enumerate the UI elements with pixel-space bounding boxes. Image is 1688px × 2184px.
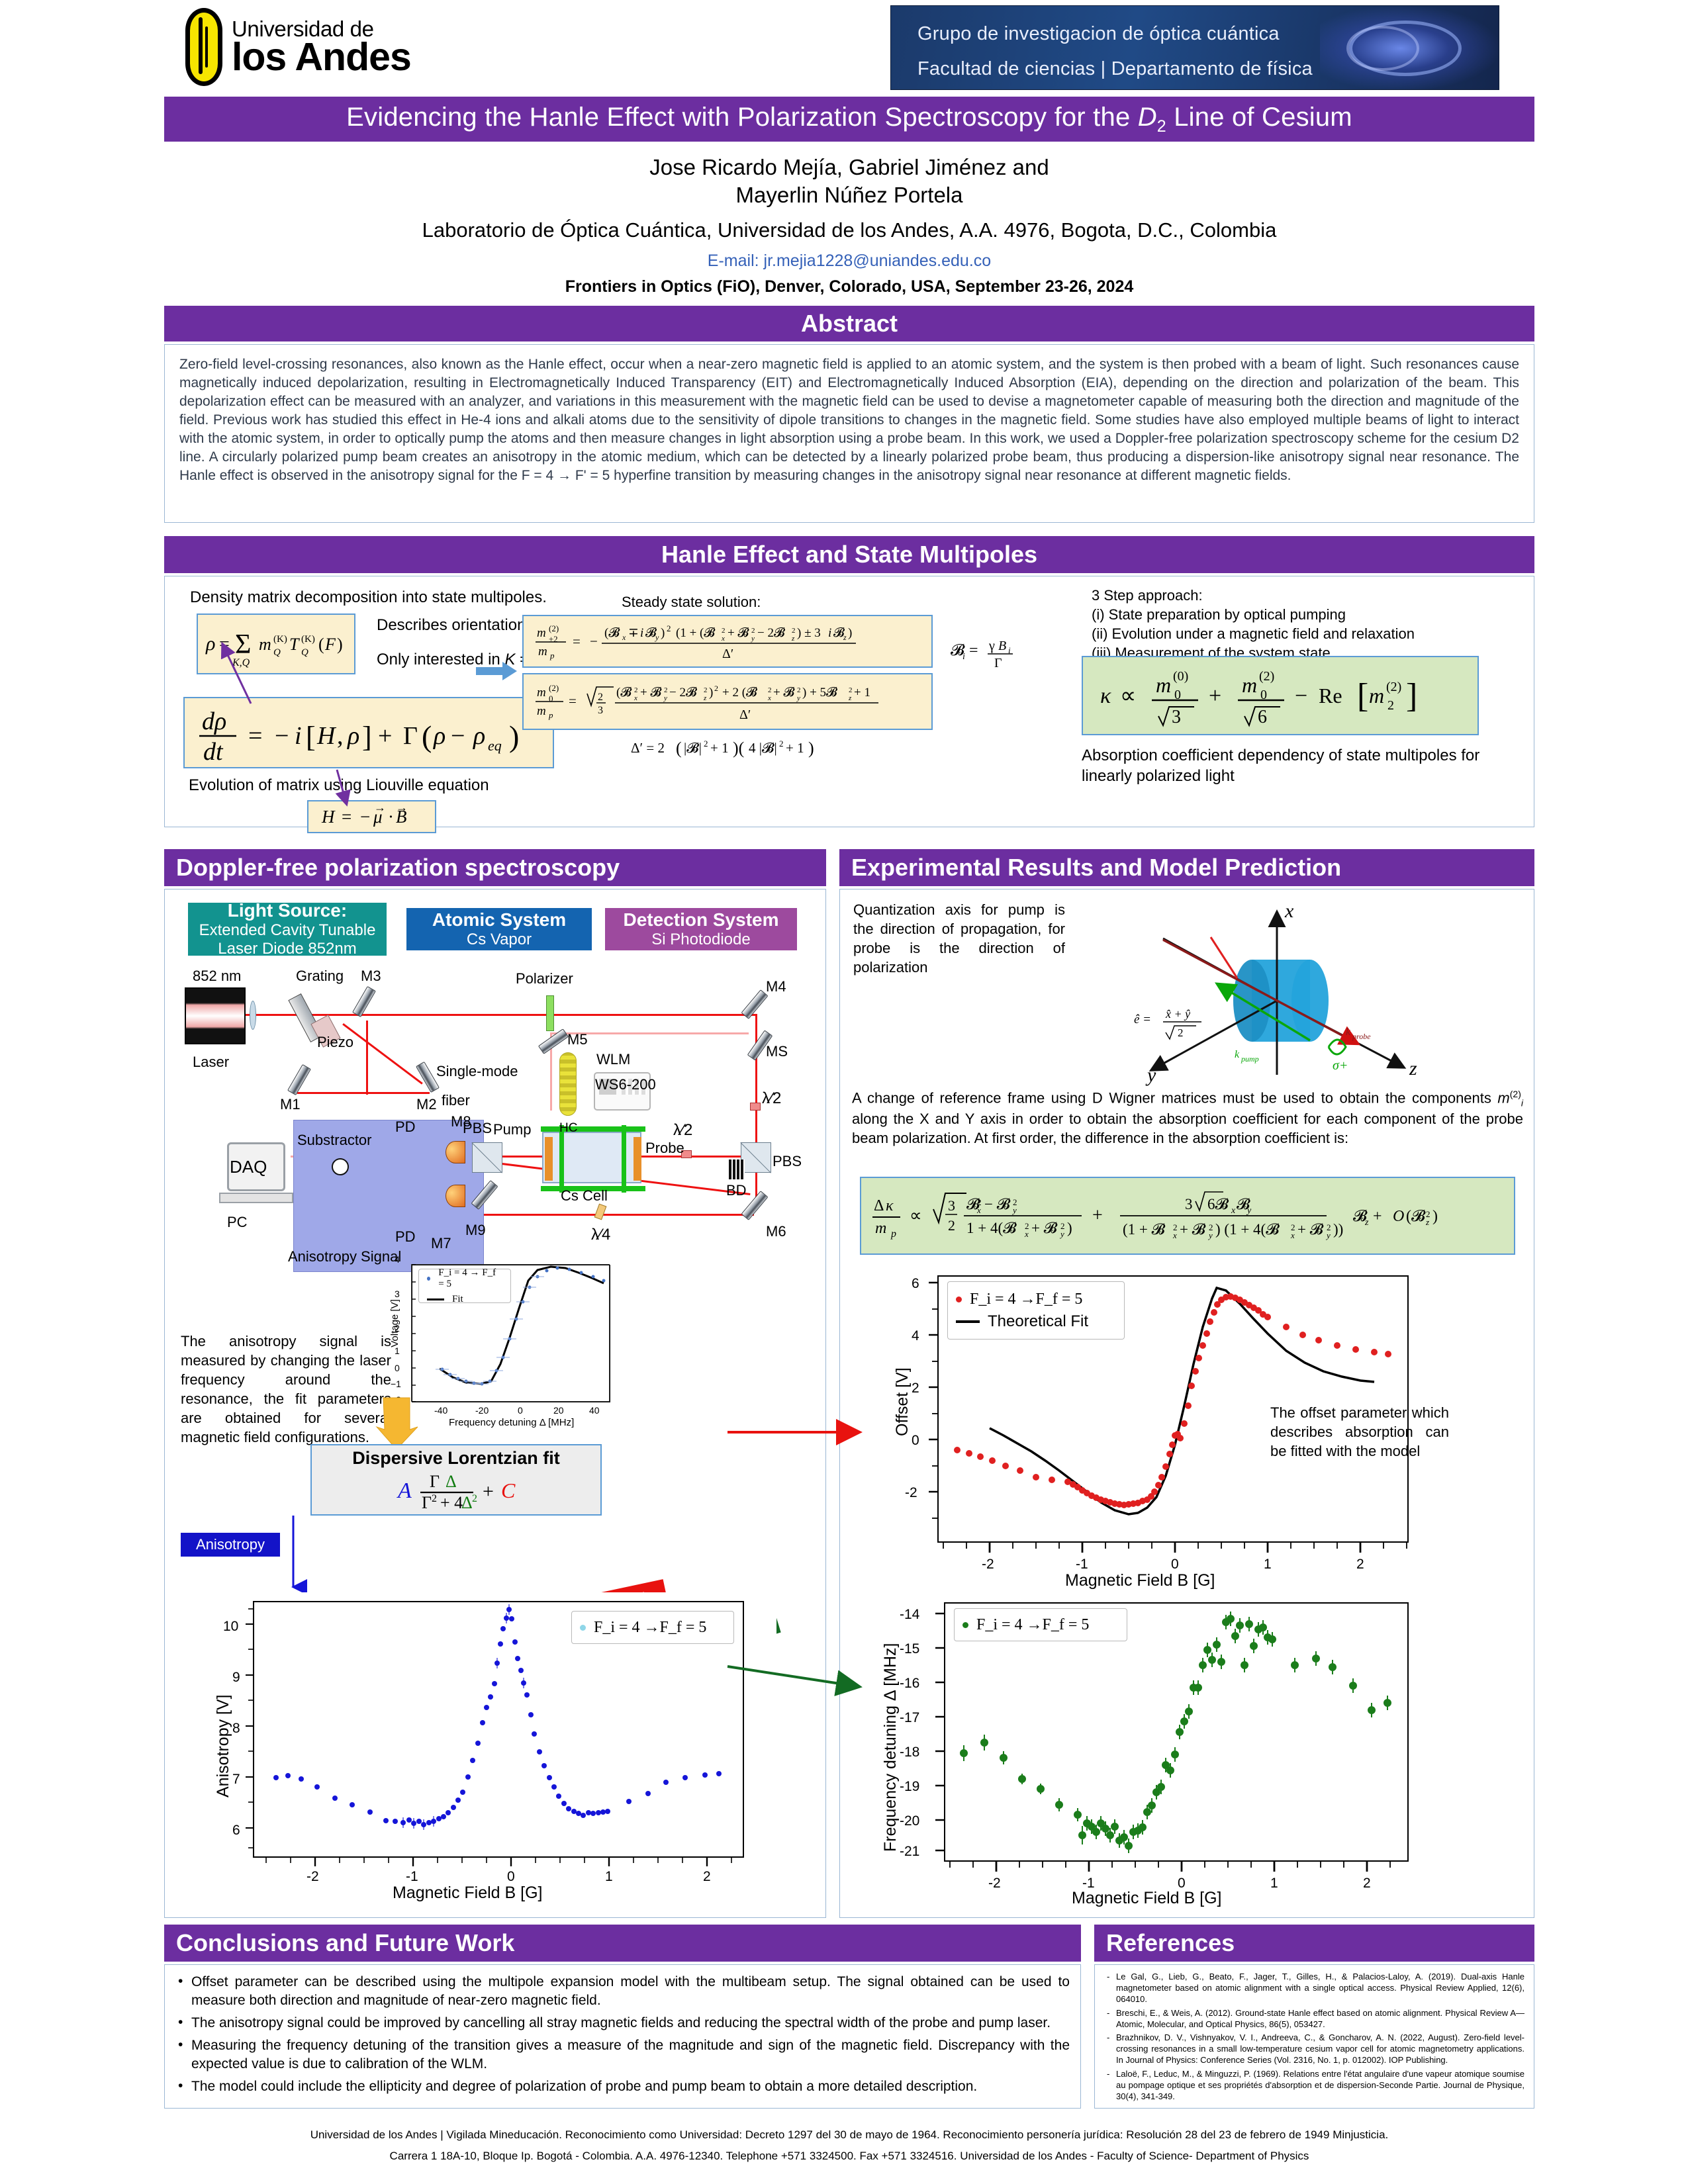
svg-text:y: y — [1059, 1229, 1064, 1239]
svg-text:m: m — [875, 1220, 886, 1237]
title-sub: 2 — [1157, 117, 1166, 136]
conclusions-section-header: Conclusions and Future Work — [164, 1925, 1081, 1962]
svg-text:2: 2 — [634, 686, 638, 694]
label-substractor: Substractor — [297, 1132, 372, 1149]
aniso-ytick-8: 8 — [232, 1721, 240, 1737]
svg-text:3: 3 — [598, 705, 603, 716]
pbs-detection — [472, 1142, 502, 1173]
label-laser: Laser — [193, 1054, 229, 1071]
svg-text:H: H — [321, 807, 336, 827]
offset-ytick-2: 2 — [912, 1381, 919, 1396]
purple-arrow-up-icon — [211, 640, 291, 706]
conference-line: Frontiers in Optics (FiO), Denver, Color… — [164, 277, 1534, 296]
svg-text:2: 2 — [472, 1493, 477, 1504]
results-section-header: Experimental Results and Model Predictio… — [839, 849, 1534, 886]
svg-text:2: 2 — [849, 686, 853, 694]
svg-text:2: 2 — [948, 1217, 955, 1234]
beam-grating-down — [342, 1023, 423, 1085]
label-single-mode: Single-mode — [436, 1063, 518, 1080]
inset-legend-label-1: F_i = 4 → F_f = 5 — [438, 1267, 502, 1290]
svg-text:m: m — [1242, 673, 1257, 697]
svg-text:(0): (0) — [1173, 669, 1188, 684]
research-group-banner: Grupo de investigacion de óptica cuántic… — [890, 5, 1499, 90]
label-ws6200: WS6-200 — [595, 1076, 656, 1093]
svg-text:·: · — [388, 807, 394, 827]
uniandes-pencil-icon — [185, 8, 222, 86]
svg-text:) (1 + 4(𝓑: ) (1 + 4(𝓑 — [1215, 1221, 1280, 1238]
svg-text:x: x — [1231, 1206, 1236, 1216]
svg-text:2: 2 — [432, 1493, 437, 1504]
inset-legend-row-1: F_i = 4 → F_f = 5 — [427, 1267, 502, 1290]
det-ytick-m18: -18 — [900, 1745, 919, 1760]
purple-arrow-down-icon — [324, 768, 363, 808]
svg-text:y: y — [751, 635, 755, 643]
svg-text:x: x — [1172, 1230, 1177, 1240]
steady-state-label: Steady state solution: — [622, 594, 761, 611]
det-ytick-m16: -16 — [900, 1676, 919, 1692]
yellow-arrow-down-icon — [375, 1396, 419, 1451]
label-m3: M3 — [361, 968, 381, 985]
aniso-legend-label: F_i = 4 →F_f = 5 — [594, 1619, 706, 1637]
svg-text:−: − — [360, 807, 370, 827]
svg-text:κ: κ — [886, 1197, 894, 1214]
svg-text:x: x — [1290, 1230, 1295, 1240]
svg-text:) ± 3: ) ± 3 — [797, 626, 821, 640]
blue-arrow-right-icon — [476, 661, 518, 681]
label-m6: M6 — [766, 1223, 786, 1240]
det-ytick-m17: -17 — [900, 1710, 919, 1726]
svg-text:− 𝓑: − 𝓑 — [984, 1196, 1011, 1212]
svg-text:dρ: dρ — [202, 707, 226, 735]
svg-text:4 |𝓑|: 4 |𝓑| — [749, 740, 777, 756]
det-ytick-m14: -14 — [900, 1607, 919, 1623]
svg-text:1 + 4(𝓑: 1 + 4(𝓑 — [966, 1220, 1017, 1236]
svg-text:+: + — [1209, 684, 1221, 708]
offset-legend-label-1: F_i = 4 →F_f = 5 — [970, 1291, 1082, 1308]
svg-text:∓: ∓ — [628, 626, 639, 640]
label-852nm: 852 nm — [193, 968, 241, 985]
equation-m-0: m (2) 0 m p = 2 3 (𝓑 2 x + 𝓑 2 y − 2𝓑 2 … — [522, 673, 933, 730]
svg-text:+ 𝓑: + 𝓑 — [1297, 1221, 1324, 1238]
aniso-xlabel: Magnetic Field B [G] — [393, 1884, 542, 1903]
svg-text:ê =: ê = — [1134, 1013, 1151, 1026]
svg-text:+ 𝓑: + 𝓑 — [1031, 1220, 1058, 1236]
svg-text:+ 4: + 4 — [440, 1493, 463, 1512]
svg-text:k: k — [1346, 1026, 1351, 1038]
offset-ytick-4: 4 — [912, 1328, 919, 1344]
laser-diode — [185, 987, 246, 1044]
steps-title: 3 Step approach: — [1092, 586, 1415, 605]
label-pd-bottom: PD — [395, 1228, 416, 1246]
svg-text:(2): (2) — [1259, 669, 1274, 684]
svg-text:C: C — [501, 1479, 516, 1502]
label-lambda-half-1: λ⁄2 — [762, 1089, 781, 1108]
label-pbs-detection: PBS — [463, 1120, 492, 1137]
svg-text:(2): (2) — [1386, 680, 1401, 694]
conclusions-section-body: Offset parameter can be described using … — [164, 1964, 1081, 2109]
inset-xlabel: Frequency detuning Δ [MHz] — [449, 1417, 574, 1428]
inset-xtick-m40: -40 — [434, 1405, 447, 1416]
svg-text:(2): (2) — [549, 623, 559, 633]
svg-text:Δ′ = 2: Δ′ = 2 — [631, 740, 665, 756]
legend-line-icon — [956, 1320, 980, 1323]
svg-text:6𝓑: 6𝓑 — [1207, 1196, 1229, 1212]
offset-xtick-2: 2 — [1356, 1557, 1364, 1572]
inset-xtick-0: 0 — [518, 1405, 523, 1416]
inset-ytick-m1: −1 — [391, 1379, 401, 1389]
det-xtick-2: 2 — [1363, 1876, 1371, 1891]
svg-text:(1 + (𝓑: (1 + (𝓑 — [676, 626, 716, 640]
email-link[interactable]: E-mail: jr.mejia1228@uniandes.edu.co — [164, 251, 1534, 271]
svg-text:(𝓑: (𝓑 — [604, 626, 620, 640]
aniso-ytick-10: 10 — [223, 1619, 238, 1635]
svg-text:Q: Q — [301, 647, 308, 658]
offset-xlabel: Magnetic Field B [G] — [1065, 1571, 1215, 1590]
group-banner-line-2: Facultad de ciencias | Departamento de f… — [917, 58, 1313, 80]
svg-text:y: y — [1246, 1206, 1252, 1216]
svg-text:x: x — [1024, 1229, 1029, 1239]
aniso-xtick-0: 0 — [507, 1869, 515, 1885]
offset-legend-row-2: Theoretical Fit — [956, 1312, 1116, 1331]
svg-text:]: ] — [1406, 677, 1417, 715]
svg-text:γ: γ — [988, 639, 995, 653]
step-ii: (ii) Evolution under a magnetic field an… — [1092, 624, 1415, 643]
spectroscopy-section-body: Light Source: Extended Cavity Tunable La… — [164, 889, 826, 1918]
svg-text:+: + — [1373, 1208, 1382, 1225]
svg-text:F: F — [324, 635, 336, 654]
svg-text:Γ: Γ — [403, 722, 418, 750]
aniso-legend-row: F_i = 4 →F_f = 5 — [580, 1619, 726, 1637]
inset-ytick-4: 4 — [395, 1254, 400, 1265]
svg-text:p: p — [890, 1228, 896, 1240]
beam-dump — [729, 1160, 745, 1179]
svg-text:B: B — [998, 639, 1006, 653]
photodiode-1 — [445, 1141, 465, 1163]
label-fiber: fiber — [442, 1092, 470, 1109]
svg-text:z: z — [1364, 1218, 1369, 1228]
svg-text:+ 1: + 1 — [710, 740, 729, 756]
detuning-plot: -14 -15 -16 -17 -18 -19 -20 -21 -2 -1 0 … — [867, 1592, 1449, 1910]
label-m4: M4 — [766, 978, 786, 995]
det-legend: F_i = 4 →F_f = 5 — [954, 1608, 1127, 1641]
equation-b-i: 𝓑 i = γ B i Γ — [949, 633, 1022, 677]
title-italic: D — [1138, 103, 1157, 132]
svg-text:−: − — [275, 722, 289, 750]
svg-text:ρ: ρ — [473, 722, 485, 750]
svg-text:ρ: ρ — [347, 722, 359, 750]
step-i: (i) State preparation by optical pumping — [1092, 605, 1415, 624]
svg-text:)(: )( — [733, 739, 744, 758]
beam-m3-down — [366, 1021, 368, 1095]
svg-text:Δ: Δ — [445, 1472, 457, 1491]
svg-text:) + 5𝓑: ) + 5𝓑 — [802, 686, 838, 700]
svg-text:∝: ∝ — [1120, 684, 1136, 708]
svg-text:+ 𝓑: + 𝓑 — [727, 626, 749, 640]
svg-text:Γ: Γ — [422, 1493, 432, 1512]
offset-xtick-0: 0 — [1171, 1557, 1179, 1572]
banner-infinity-inner-icon — [1346, 26, 1419, 71]
chip-detection-system-title: Detection System — [605, 909, 797, 931]
inset-ytick-3: 3 — [395, 1289, 400, 1299]
offset-ylabel: Offset [V] — [893, 1367, 912, 1436]
svg-text:i: i — [962, 652, 965, 662]
det-ylabel: Frequency detuning Δ [MHz] — [881, 1643, 900, 1852]
svg-text:+ 𝓑: + 𝓑 — [773, 686, 795, 700]
inset-xtick-40: 40 — [589, 1405, 600, 1416]
svg-text:): ) — [848, 626, 852, 640]
conclusion-item: The anisotropy signal could be improved … — [175, 2014, 1070, 2032]
svg-text:(: ( — [422, 719, 432, 753]
optical-setup-diagram: 852 nm Grating M3 Polarizer M4 Piezo M5 … — [179, 962, 815, 1313]
svg-text:z: z — [791, 635, 795, 643]
svg-text:x: x — [622, 633, 626, 642]
svg-text:): ) — [509, 719, 519, 753]
inset-legend: F_i = 4 → F_f = 5 Fit — [418, 1269, 511, 1303]
svg-text:(: ( — [676, 739, 682, 758]
svg-text:y: y — [1011, 1205, 1017, 1215]
aniso-xtick-m2: -2 — [306, 1869, 319, 1885]
conclusion-item: Offset parameter can be described using … — [175, 1973, 1070, 2010]
uniandes-logo: Universidad de los Andes — [185, 8, 411, 86]
svg-text:3: 3 — [1172, 707, 1181, 727]
svg-text:m: m — [537, 704, 546, 718]
svg-text:m: m — [1369, 684, 1384, 707]
chip-atomic-system: Atomic System Cs Vapor — [406, 908, 592, 950]
svg-text:): ) — [337, 635, 343, 654]
hanle-text-1: Density matrix decomposition into state … — [190, 588, 547, 607]
label-lambda-quarter: λ⁄4 — [591, 1226, 610, 1244]
authors-block: Jose Ricardo Mejía, Gabriel Jiménez and … — [164, 154, 1534, 296]
svg-text:y: y — [796, 694, 800, 702]
svg-text:p: p — [548, 710, 553, 720]
svg-text:y: y — [1325, 1230, 1331, 1240]
single-mode-fiber — [559, 1052, 577, 1116]
svg-text:H: H — [316, 722, 337, 750]
svg-text:+ 1: + 1 — [786, 740, 804, 756]
polarizer-element — [546, 995, 554, 1031]
svg-text:x: x — [976, 1205, 981, 1215]
svg-text:z: z — [703, 694, 707, 702]
aniso-ylabel: Anisotropy [V] — [214, 1694, 233, 1797]
poster-root: Universidad de los Andes Grupo de invest… — [0, 0, 1688, 2184]
det-xtick-1: 1 — [1270, 1876, 1278, 1891]
chip-detection-system-detail: Si Photodiode — [605, 931, 797, 949]
svg-text:σ+: σ+ — [1333, 1058, 1348, 1073]
reference-item: Laloë, F., Leduc, M., & Minguzzi, P. (19… — [1104, 2069, 1524, 2103]
svg-text:): ) — [661, 626, 665, 640]
label-bd: BD — [726, 1182, 747, 1199]
svg-text:y: y — [1145, 1064, 1156, 1086]
hanle-section-body: Density matrix decomposition into state … — [164, 576, 1534, 827]
svg-text:,: , — [337, 722, 344, 750]
svg-text:κ: κ — [1100, 684, 1111, 708]
svg-text:dt: dt — [203, 738, 224, 766]
svg-text:m: m — [537, 686, 546, 700]
svg-text:z: z — [1425, 1217, 1429, 1227]
svg-text:Δ: Δ — [874, 1197, 884, 1214]
beam-top — [366, 1014, 757, 1016]
authors-line-1: Jose Ricardo Mejía, Gabriel Jiménez and — [164, 154, 1534, 181]
quantization-axis-text: Quantization axis for pump is the direct… — [853, 900, 1065, 977]
dispersive-lorentzian-box: Dispersive Lorentzian fit A Γ Δ Γ 2 + 4 … — [310, 1444, 602, 1516]
svg-text:x: x — [633, 694, 637, 702]
svg-text:Δ: Δ — [461, 1493, 473, 1512]
equation-delta-kappa: Δ κ m p ∝ 3 2 𝓑 2 x − 𝓑 2 y 1 + 4(𝓑 2 x — [860, 1177, 1515, 1255]
svg-text:(: ( — [318, 635, 324, 654]
svg-text:x̂ + ŷ: x̂ + ŷ — [1165, 1007, 1190, 1021]
absorption-caption: Absorption coefficient dependency of sta… — [1082, 745, 1505, 786]
equation-delta-prime: Δ′ = 2 ( |𝓑| 2 + 1 )( 4 |𝓑| 2 + 1 ) — [628, 737, 847, 763]
svg-text:(𝓑: (𝓑 — [616, 686, 632, 700]
legend-dot-icon — [962, 1622, 968, 1628]
det-ytick-m21: -21 — [900, 1844, 919, 1860]
svg-text:=: = — [342, 807, 352, 827]
det-legend-label: F_i = 4 →F_f = 5 — [976, 1616, 1089, 1634]
poster-footer: Universidad de los Andes | Vigilada Mine… — [164, 2124, 1534, 2167]
svg-text:=: = — [248, 722, 262, 750]
svg-text:(2): (2) — [549, 683, 559, 693]
poster-title-bar: Evidencing the Hanle Effect with Polariz… — [164, 97, 1534, 142]
det-xtick-m2: -2 — [988, 1876, 1001, 1891]
svg-text:2: 2 — [792, 627, 796, 635]
legend-dot-icon — [427, 1277, 430, 1281]
lens-icon — [250, 1001, 256, 1030]
abstract-text: Zero-field level-crossing resonances, al… — [179, 355, 1519, 484]
svg-text:y: y — [1207, 1230, 1213, 1240]
title-pre: Evidencing the Hanle Effect with Polariz… — [346, 103, 1138, 132]
svg-text:+: + — [378, 722, 392, 750]
inset-xtick-20: 20 — [553, 1405, 564, 1416]
svg-text:+ 𝓑: + 𝓑 — [1180, 1221, 1206, 1238]
svg-text:probe: probe — [1352, 1032, 1371, 1041]
svg-text:m: m — [537, 626, 546, 640]
svg-text:2: 2 — [722, 627, 726, 635]
svg-text:i: i — [295, 722, 302, 750]
svg-text:z: z — [1409, 1058, 1417, 1079]
svg-text:eq: eq — [488, 737, 502, 754]
offset-xtick-m2: -2 — [982, 1557, 994, 1572]
svg-text:2: 2 — [1387, 698, 1394, 713]
svg-text:+ 𝓑: + 𝓑 — [640, 686, 662, 700]
aniso-xtick-m1: -1 — [406, 1869, 418, 1885]
svg-text:Γ: Γ — [994, 656, 1002, 670]
half-waveplate-1 — [750, 1103, 761, 1111]
svg-text:→: → — [396, 801, 408, 814]
svg-text:O: O — [1393, 1208, 1404, 1225]
offset-xtick-1: 1 — [1264, 1557, 1272, 1572]
mirror-m3 — [352, 986, 376, 1017]
offset-ytick-6: 6 — [912, 1276, 919, 1292]
svg-text:Γ: Γ — [430, 1472, 440, 1491]
svg-text:Δ′: Δ′ — [722, 647, 733, 661]
affiliation: Laboratorio de Óptica Cuántica, Universi… — [164, 218, 1534, 242]
aniso-xtick-1: 1 — [605, 1869, 613, 1885]
offset-ytick-0: 0 — [912, 1433, 919, 1449]
svg-text:3: 3 — [948, 1197, 955, 1214]
svg-text:m: m — [538, 645, 547, 659]
footer-line-2: Carrera 1 18A-10, Bloque Ip. Bogotá - Co… — [164, 2146, 1534, 2167]
callout-anisotropy: Anisotropy — [181, 1533, 280, 1557]
svg-text:Re: Re — [1319, 684, 1342, 707]
svg-text:x: x — [1284, 900, 1294, 922]
label-m1: M1 — [280, 1096, 301, 1113]
anisotropy-explain-text: The anisotropy signal is measured by cha… — [181, 1332, 391, 1447]
subtractor-node — [332, 1158, 349, 1175]
label-m9: M9 — [465, 1222, 486, 1239]
svg-text:[: [ — [1357, 677, 1368, 715]
svg-text:)): )) — [1333, 1221, 1343, 1238]
results-section-body: Quantization axis for pump is the direct… — [839, 889, 1534, 1918]
label-pbs-right: PBS — [773, 1153, 802, 1170]
legend-line-icon — [427, 1298, 444, 1300]
offset-ytick-m2: -2 — [905, 1485, 917, 1501]
svg-text:2: 2 — [768, 686, 772, 694]
det-ytick-m15: -15 — [900, 1641, 919, 1657]
label-m7: M7 — [431, 1235, 451, 1252]
svg-text:y: y — [655, 633, 659, 642]
offset-xtick-m1: -1 — [1076, 1557, 1088, 1572]
offset-legend-label-2: Theoretical Fit — [988, 1312, 1088, 1331]
svg-text:−: − — [1295, 684, 1307, 708]
svg-text:∝: ∝ — [910, 1206, 922, 1225]
svg-text:z: z — [848, 694, 852, 702]
svg-text:→: → — [374, 801, 386, 814]
offset-red-arrow-icon — [727, 1419, 873, 1445]
svg-text:=: = — [569, 693, 577, 709]
label-hc: HC — [559, 1121, 577, 1136]
svg-text:A: A — [397, 1479, 412, 1503]
photodiode-2 — [445, 1185, 465, 1207]
equation-m-pm2: m (2) ±2 m p = − (𝓑 x ∓ i 𝓑 y ) 2 (1 + (… — [522, 615, 933, 668]
svg-text:=: = — [573, 633, 581, 649]
inset-ylabel: Voltage [V] — [389, 1299, 400, 1347]
geometry-3d-diagram: x y z k probe k pump σ+ ê = x̂ + ŷ 2 — [1078, 896, 1476, 1088]
legend-dot-icon — [956, 1297, 962, 1302]
svg-text:2: 2 — [704, 686, 708, 694]
svg-text:(K): (K) — [301, 634, 315, 645]
cs-cell — [542, 1132, 641, 1183]
spectroscopy-section-header: Doppler-free polarization spectroscopy — [164, 849, 826, 886]
legend-dot-icon — [580, 1625, 586, 1631]
svg-text:2: 2 — [797, 686, 801, 694]
svg-text:−: − — [451, 722, 465, 750]
svg-text:=: = — [969, 642, 978, 659]
title-post: Line of Cesium — [1166, 103, 1352, 132]
svg-text:−: − — [590, 633, 598, 649]
det-xlabel: Magnetic Field B [G] — [1072, 1889, 1221, 1908]
equation-absorption-kappa: κ ∝ m 0 (0) 3 + m 0 (2) 6 − Re [ m 2 — [1082, 656, 1479, 735]
aniso-ytick-9: 9 — [232, 1670, 240, 1686]
svg-text:Δ′: Δ′ — [739, 707, 751, 722]
det-ytick-m19: -19 — [900, 1779, 919, 1795]
svg-text:|𝓑|: |𝓑| — [684, 740, 702, 756]
label-probe: Probe — [645, 1140, 684, 1157]
svg-text:− 2𝓑: − 2𝓑 — [669, 686, 698, 700]
label-anisotropy-signal: Anisotropy Signal — [288, 1248, 401, 1265]
label-cs-cell: Cs Cell — [561, 1187, 608, 1205]
label-m5: M5 — [567, 1031, 588, 1048]
reference-item: Brazhnikov, D. V., Vishnyakov, V. I., An… — [1104, 2032, 1524, 2066]
inset-xtick-m20: -20 — [475, 1405, 489, 1416]
svg-text:): ) — [1432, 1208, 1438, 1225]
logo-line-2: los Andes — [232, 39, 411, 75]
svg-text:pump: pump — [1241, 1054, 1259, 1064]
svg-text:): ) — [709, 686, 713, 700]
anisotropy-plot: 10 9 8 7 6 -2 -1 0 1 2 Anisotropy [V] Ma… — [194, 1592, 776, 1903]
offset-legend-row-1: F_i = 4 →F_f = 5 — [956, 1291, 1116, 1308]
label-lambda-half-2: λ⁄2 — [673, 1121, 692, 1140]
beam-m1-m2 — [297, 1092, 430, 1094]
